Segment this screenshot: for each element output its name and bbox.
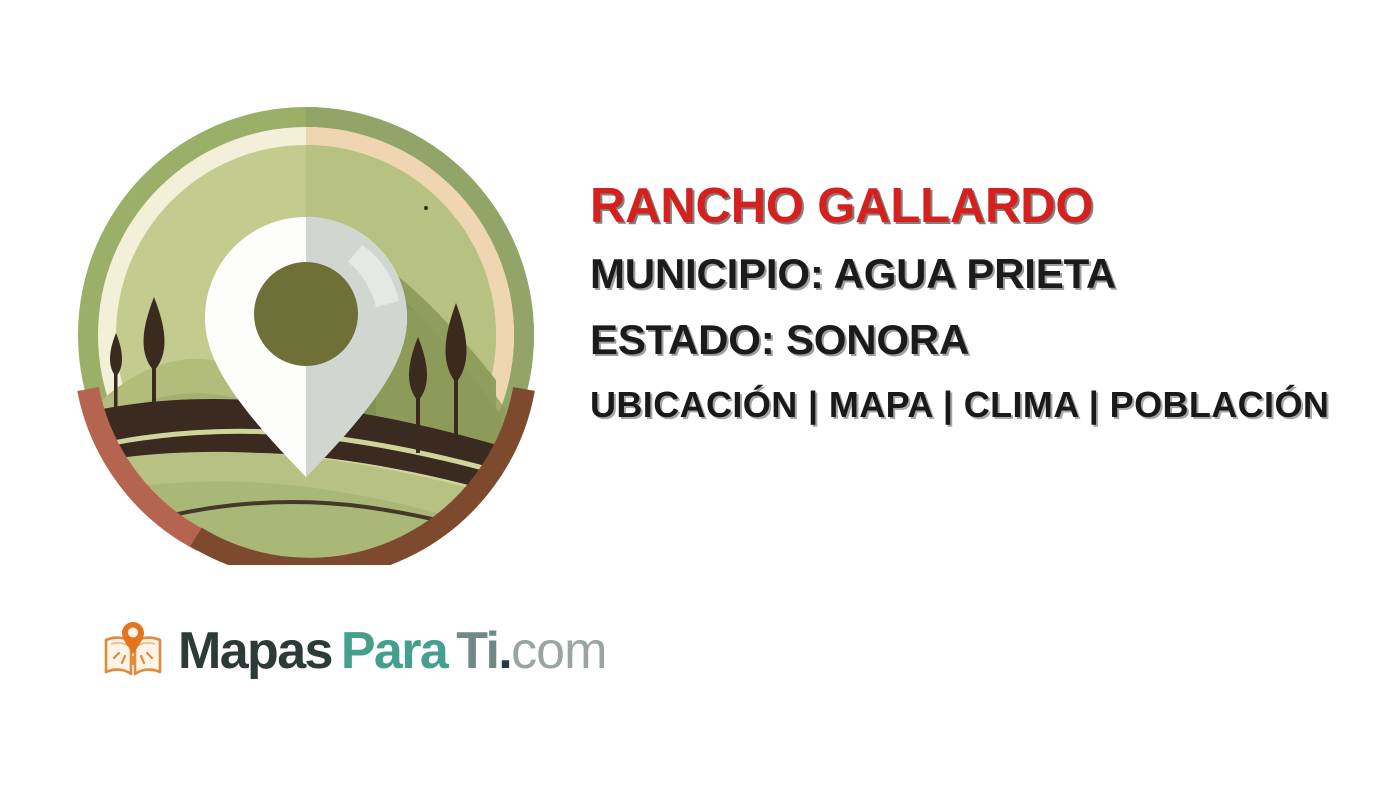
municipio-label: MUNICIPIO: AGUA PRIETA	[590, 253, 1390, 295]
brand-logo[interactable]: Mapas Para Ti . com	[100, 618, 606, 684]
estado-label: ESTADO: SONORA	[590, 319, 1390, 361]
brand-word-para: Para	[341, 625, 447, 677]
rural-landscape-emblem	[76, 105, 536, 565]
open-book-map-pin-icon	[100, 618, 166, 684]
page-root: RANCHO GALLARDO MUNICIPIO: AGUA PRIETA E…	[0, 0, 1400, 786]
servicios-nav-list[interactable]: UBICACIÓN | MAPA | CLIMA | POBLACIÓN	[590, 387, 1390, 423]
brand-word-dot: .	[498, 625, 511, 677]
brand-wordmark: Mapas Para Ti . com	[178, 625, 606, 677]
location-info-block: RANCHO GALLARDO MUNICIPIO: AGUA PRIETA E…	[590, 182, 1390, 423]
page-title: RANCHO GALLARDO	[590, 182, 1390, 231]
brand-word-ti: Ti	[456, 625, 498, 677]
brand-word-com: com	[511, 625, 606, 677]
brand-word-mapas: Mapas	[178, 625, 332, 677]
